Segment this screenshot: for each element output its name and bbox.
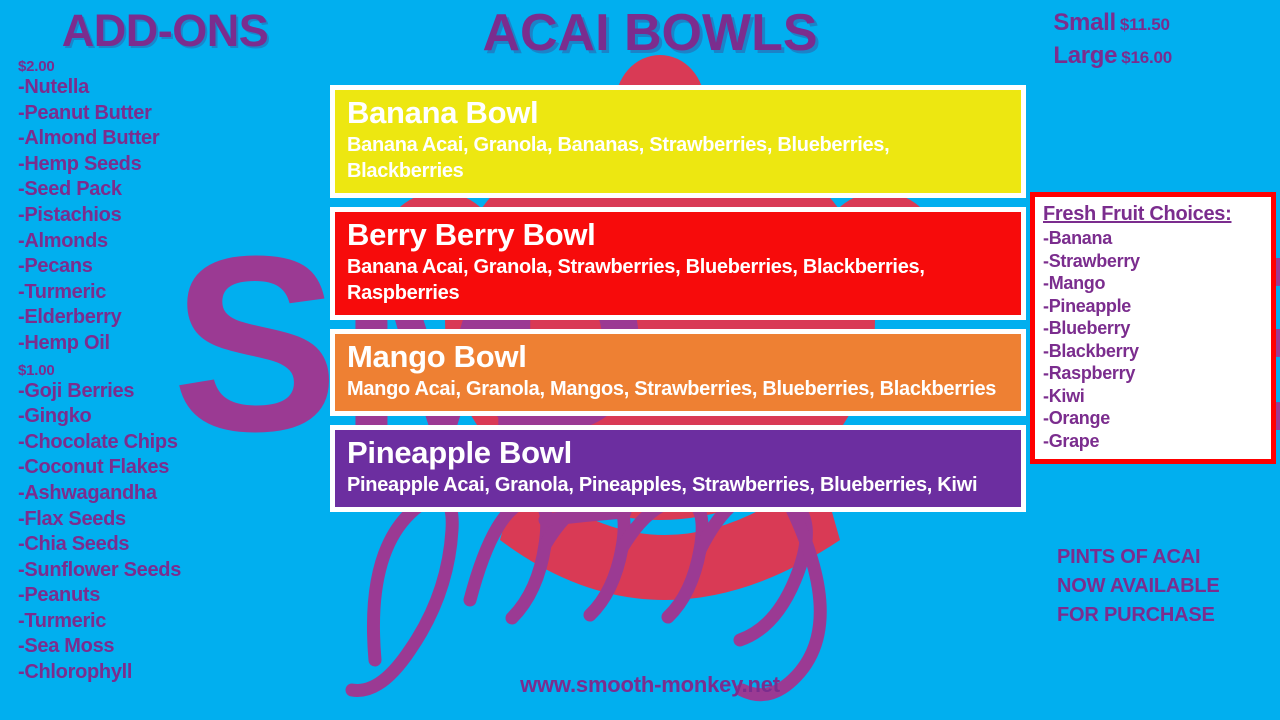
bowl-name: Mango Bowl: [335, 338, 1021, 376]
bowl-name: Berry Berry Bowl: [335, 216, 1021, 254]
addon-item: -Chocolate Chips: [18, 430, 330, 456]
addon-item: -Coconut Flakes: [18, 455, 330, 481]
addons-column: ADD-ONS $2.00 -Nutella -Peanut Butter -A…: [0, 0, 330, 720]
fruit-item: -Mango: [1043, 272, 1271, 295]
fresh-fruit-title: Fresh Fruit Choices:: [1043, 201, 1271, 227]
addon-item: -Almonds: [18, 229, 330, 255]
price-size-label: Small: [1053, 9, 1116, 36]
addon-item: -Almond Butter: [18, 126, 330, 152]
bowl-description: Banana Acai, Granola, Strawberries, Blue…: [335, 254, 1021, 306]
fruit-item: -Kiwi: [1043, 385, 1271, 408]
fruit-item: -Raspberry: [1043, 362, 1271, 385]
addon-item: -Chia Seeds: [18, 532, 330, 558]
bowl-description: Mango Acai, Granola, Mangos, Strawberrie…: [335, 376, 1021, 402]
page-title: ACAI BOWLS: [330, 6, 970, 61]
promo-line: FOR PURCHASE: [1057, 601, 1272, 630]
fruit-item: -Pineapple: [1043, 295, 1271, 318]
addon-item: -Seed Pack: [18, 177, 330, 203]
bowl-card-list: Banana Bowl Banana Acai, Granola, Banana…: [330, 85, 1026, 521]
addon-item: -Pecans: [18, 254, 330, 280]
addon-item: -Elderberry: [18, 305, 330, 331]
bowl-card-mango[interactable]: Mango Bowl Mango Acai, Granola, Mangos, …: [330, 329, 1026, 416]
bowl-name: Banana Bowl: [335, 94, 1021, 132]
bowl-card-pineapple[interactable]: Pineapple Bowl Pineapple Acai, Granola, …: [330, 425, 1026, 512]
addon-item: -Peanuts: [18, 583, 330, 609]
addons-tier1-list: -Goji Berries -Gingko -Chocolate Chips -…: [0, 379, 330, 686]
pints-promo: PINTS OF ACAI NOW AVAILABLE FOR PURCHASE: [1057, 543, 1272, 630]
fruit-item: -Blackberry: [1043, 340, 1271, 363]
fruit-item: -Grape: [1043, 430, 1271, 453]
addon-item: -Peanut Butter: [18, 101, 330, 127]
addon-item: -Ashwagandha: [18, 481, 330, 507]
price-row-small: Small$11.50: [1053, 8, 1172, 41]
fruit-item: -Blueberry: [1043, 317, 1271, 340]
fruit-item: -Banana: [1043, 227, 1271, 250]
watermark-script: [352, 492, 820, 695]
bowl-name: Pineapple Bowl: [335, 434, 1021, 472]
bowl-card-banana[interactable]: Banana Bowl Banana Acai, Granola, Banana…: [330, 85, 1026, 198]
addon-item: -Chlorophyll: [18, 660, 330, 686]
price-amount: $11.50: [1120, 15, 1170, 34]
addons-title: ADD-ONS: [0, 8, 330, 53]
addon-item: -Turmeric: [18, 609, 330, 635]
price-size-label: Large: [1053, 42, 1117, 69]
fresh-fruit-choices-box: Fresh Fruit Choices: -Banana -Strawberry…: [1030, 192, 1276, 464]
price-amount: $16.00: [1121, 48, 1172, 67]
fruit-item: -Strawberry: [1043, 250, 1271, 273]
promo-line: NOW AVAILABLE: [1057, 572, 1272, 601]
addon-item: -Gingko: [18, 404, 330, 430]
addon-item: -Pistachios: [18, 203, 330, 229]
bowl-card-berry-berry[interactable]: Berry Berry Bowl Banana Acai, Granola, S…: [330, 207, 1026, 320]
addons-tier1-price: $1.00: [18, 362, 330, 379]
bowl-description: Banana Acai, Granola, Bananas, Strawberr…: [335, 132, 1021, 184]
fruit-item: -Orange: [1043, 407, 1271, 430]
addons-tier2-price: $2.00: [18, 58, 330, 75]
addon-item: -Turmeric: [18, 280, 330, 306]
addon-item: -Hemp Oil: [18, 331, 330, 357]
price-row-large: Large$16.00: [1053, 41, 1172, 74]
addon-item: -Goji Berries: [18, 379, 330, 405]
addon-item: -Sunflower Seeds: [18, 558, 330, 584]
addon-item: -Nutella: [18, 75, 330, 101]
addon-item: -Hemp Seeds: [18, 152, 330, 178]
promo-line: PINTS OF ACAI: [1057, 543, 1272, 572]
bowl-description: Pineapple Acai, Granola, Pineapples, Str…: [335, 472, 1021, 498]
addon-item: -Flax Seeds: [18, 507, 330, 533]
fresh-fruit-list: -Banana -Strawberry -Mango -Pineapple -B…: [1043, 227, 1271, 452]
addon-item: -Sea Moss: [18, 634, 330, 660]
addons-tier2-list: -Nutella -Peanut Butter -Almond Butter -…: [0, 75, 330, 357]
website-url[interactable]: www.smooth-monkey.net: [330, 672, 970, 698]
price-block: Small$11.50 Large$16.00: [1053, 8, 1172, 74]
